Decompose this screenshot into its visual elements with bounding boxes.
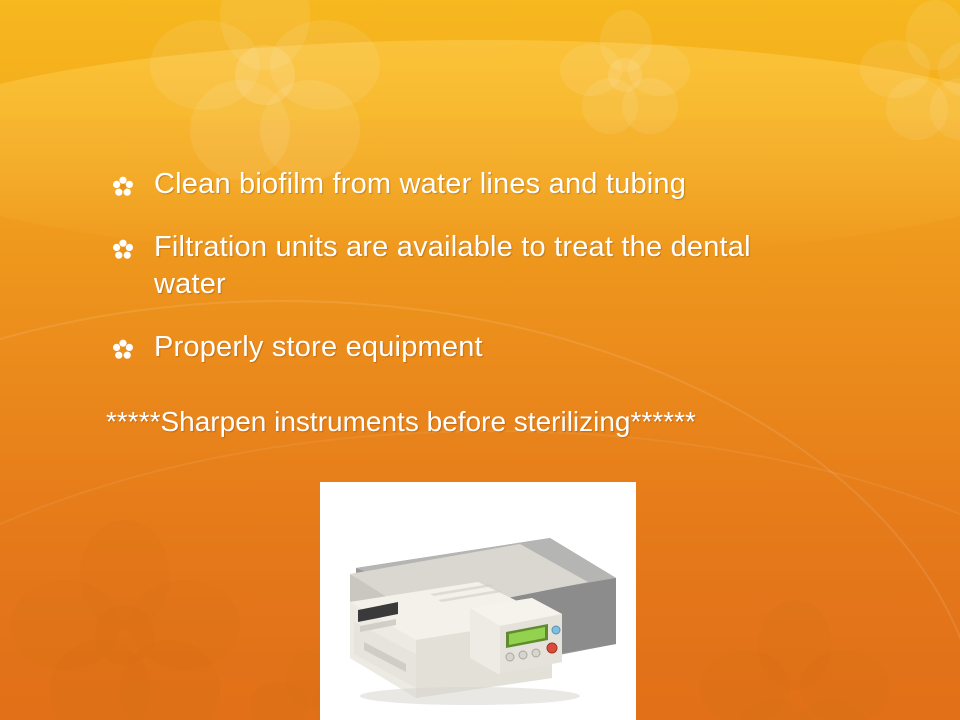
list-item-label: Properly store equipment xyxy=(154,331,483,363)
statim-cassette-sterilizer-photo xyxy=(320,482,636,720)
list-item: Properly store equipment xyxy=(106,329,896,366)
sterilizer-image xyxy=(320,482,636,720)
flower-bullet-icon xyxy=(112,234,134,256)
emphasis-note: *****Sharpen instruments before steriliz… xyxy=(106,404,926,439)
slide: Clean biofilm from water lines and tubin… xyxy=(0,0,960,720)
list-item: Filtration units are available to treat … xyxy=(106,229,804,303)
flower-bullet-icon xyxy=(112,171,134,193)
list-item-label: Clean biofilm from water lines and tubin… xyxy=(154,168,686,200)
bullet-list: Clean biofilm from water lines and tubin… xyxy=(106,166,896,392)
list-item-label: Filtration units are available to treat … xyxy=(154,231,751,300)
slide-content: Clean biofilm from water lines and tubin… xyxy=(0,0,960,720)
list-item: Clean biofilm from water lines and tubin… xyxy=(106,166,896,203)
flower-bullet-icon xyxy=(112,334,134,356)
